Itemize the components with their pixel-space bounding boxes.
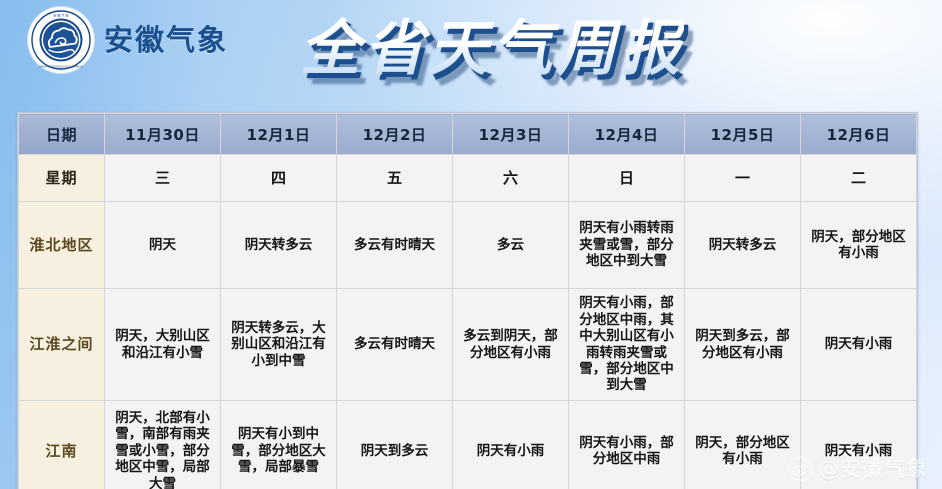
- cell-jiangnan-6: 阴天，部分地区有小雨: [685, 401, 801, 489]
- cell-huaibei-3: 多云有时晴天: [337, 202, 453, 289]
- cell-jiangnan-5: 阴天有小雨，部分地区中雨: [569, 401, 685, 489]
- column-header-day-3: 12月2日: [337, 114, 453, 155]
- cell-huaibei-6: 阴天转多云: [685, 202, 801, 289]
- cell-jiangnan-2: 阴天有小到中雪，部分地区大雪，局部暴雪: [221, 401, 337, 489]
- column-header-day-2: 12月1日: [221, 114, 337, 155]
- page-header: 安 徽 气 象 ANHUI METEOROLOGICAL BUREAU 安徽气象…: [0, 0, 942, 104]
- table-row-huaibei: 淮北地区 阴天 阴天转多云 多云有时晴天 多云 阴天有小雨转雨夹雪或雪，部分地区…: [19, 202, 917, 289]
- row-label-jiangnan: 江南: [19, 401, 105, 489]
- cell-jiangnan-7: 阴天有小雨: [801, 401, 917, 489]
- cell-weekday-7: 二: [801, 155, 917, 202]
- table-row-weekday: 星期 三 四 五 六 日 一 二: [19, 155, 917, 202]
- cell-weekday-3: 五: [337, 155, 453, 202]
- cell-jianghuai-5: 阴天有小雨，部分地区中雨，其中大别山区有小雨转雨夹雪或雪，部分地区中到大雪: [569, 289, 685, 401]
- cell-jiangnan-4: 阴天有小雨: [453, 401, 569, 489]
- weather-weekly-report-page: 安 徽 气 象 ANHUI METEOROLOGICAL BUREAU 安徽气象…: [0, 0, 942, 489]
- column-header-day-7: 12月6日: [801, 114, 917, 155]
- weather-table-container: 日期 11月30日 12月1日 12月2日 12月3日 12月4日 12月5日 …: [17, 112, 918, 489]
- column-header-day-5: 12月4日: [569, 114, 685, 155]
- brand-name: 安徽气象: [104, 26, 228, 55]
- brand-block: 安 徽 气 象 ANHUI METEOROLOGICAL BUREAU 安徽气象: [28, 7, 228, 73]
- cell-jianghuai-2: 阴天转多云，大别山区和沿江有小到中雪: [221, 289, 337, 401]
- row-label-huaibei: 淮北地区: [19, 202, 105, 289]
- column-header-day-6: 12月5日: [685, 114, 801, 155]
- cell-jianghuai-6: 阴天到多云，部分地区有小雨: [685, 289, 801, 401]
- row-label-weekday: 星期: [19, 155, 105, 202]
- table-header-row: 日期 11月30日 12月1日 12月2日 12月3日 12月4日 12月5日 …: [19, 114, 917, 155]
- page-title: 全省天气周报: [300, 6, 684, 92]
- cell-jianghuai-1: 阴天，大别山区和沿江有小雪: [105, 289, 221, 401]
- anhui-meteorological-bureau-emblem-icon: 安 徽 气 象 ANHUI METEOROLOGICAL BUREAU: [28, 7, 94, 73]
- cell-huaibei-4: 多云: [453, 202, 569, 289]
- cell-huaibei-1: 阴天: [105, 202, 221, 289]
- svg-text:安 徽 气 象: 安 徽 气 象: [53, 12, 68, 17]
- column-header-date-label: 日期: [19, 114, 105, 155]
- cell-jiangnan-1: 阴天，北部有小雪，南部有雨夹雪或小雪，部分地区中雪，局部大雪: [105, 401, 221, 489]
- cell-huaibei-7: 阴天，部分地区有小雨: [801, 202, 917, 289]
- weather-table: 日期 11月30日 12月1日 12月2日 12月3日 12月4日 12月5日 …: [18, 113, 917, 489]
- cell-weekday-5: 日: [569, 155, 685, 202]
- row-label-jianghuai: 江淮之间: [19, 289, 105, 401]
- cell-weekday-6: 一: [685, 155, 801, 202]
- cell-huaibei-2: 阴天转多云: [221, 202, 337, 289]
- weather-table-body: 星期 三 四 五 六 日 一 二 淮北地区 阴天 阴天转多云 多云有时晴天 多云…: [19, 155, 917, 489]
- cell-jianghuai-4: 多云到阴天，部分地区有小雨: [453, 289, 569, 401]
- cell-jianghuai-3: 多云有时晴天: [337, 289, 453, 401]
- svg-text:ANHUI METEOROLOGICAL BUREAU: ANHUI METEOROLOGICAL BUREAU: [39, 65, 82, 69]
- cell-weekday-2: 四: [221, 155, 337, 202]
- table-row-jianghuai: 江淮之间 阴天，大别山区和沿江有小雪 阴天转多云，大别山区和沿江有小到中雪 多云…: [19, 289, 917, 401]
- cell-weekday-1: 三: [105, 155, 221, 202]
- cell-huaibei-5: 阴天有小雨转雨夹雪或雪，部分地区中到大雪: [569, 202, 685, 289]
- weather-table-head: 日期 11月30日 12月1日 12月2日 12月3日 12月4日 12月5日 …: [19, 114, 917, 155]
- table-row-jiangnan: 江南 阴天，北部有小雪，南部有雨夹雪或小雪，部分地区中雪，局部大雪 阴天有小到中…: [19, 401, 917, 489]
- cell-jianghuai-7: 阴天有小雨: [801, 289, 917, 401]
- cell-weekday-4: 六: [453, 155, 569, 202]
- cell-jiangnan-3: 阴天到多云: [337, 401, 453, 489]
- column-header-day-1: 11月30日: [105, 114, 221, 155]
- column-header-day-4: 12月3日: [453, 114, 569, 155]
